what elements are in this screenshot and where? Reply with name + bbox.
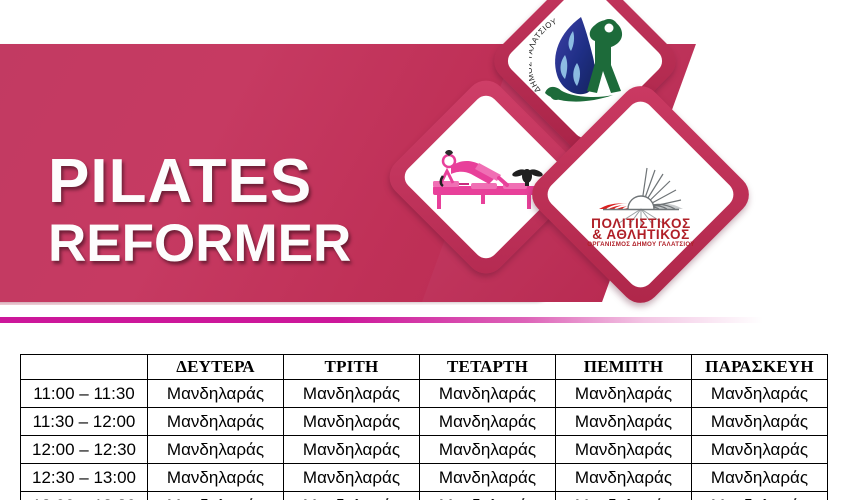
day-header-wednesday: ΤΕΤΑΡΤΗ (420, 355, 556, 380)
table-row: 11:00 – 11:30 Μανδηλαράς Μανδηλαράς Μανδ… (21, 380, 828, 408)
table-row: 13:00 – 13:30 Μανδηλαράς Μανδηλαράς Μανδ… (21, 492, 828, 500)
schedule-cell: Μανδηλαράς (148, 436, 284, 464)
schedule-cell: Μανδηλαράς (556, 436, 692, 464)
page-title: PILATES (48, 152, 448, 212)
time-slot: 12:30 – 13:00 (21, 464, 148, 492)
time-slot: 12:00 – 12:30 (21, 436, 148, 464)
day-header-friday: ΠΑΡΑΣΚΕΥΗ (692, 355, 828, 380)
schedule-table-body: 11:00 – 11:30 Μανδηλαράς Μανδηλαράς Μανδ… (21, 380, 828, 500)
schedule-cell: Μανδηλαράς (556, 492, 692, 500)
schedule-cell: Μανδηλαράς (556, 464, 692, 492)
schedule-cell: Μανδηλαράς (284, 380, 420, 408)
corner-cell (21, 355, 148, 380)
time-slot: 13:00 – 13:30 (21, 492, 148, 500)
time-slot: 11:30 – 12:00 (21, 408, 148, 436)
day-header-monday: ΔΕΥΤΕΡΑ (148, 355, 284, 380)
poster-root: PILATES REFORMER (0, 0, 848, 500)
schedule-cell: Μανδηλαράς (420, 408, 556, 436)
schedule-cell: Μανδηλαράς (692, 436, 828, 464)
schedule-table: ΔΕΥΤΕΡΑ ΤΡΙΤΗ ΤΕΤΑΡΤΗ ΠΕΜΠΤΗ ΠΑΡΑΣΚΕΥΗ 1… (20, 354, 828, 500)
day-header-tuesday: ΤΡΙΤΗ (284, 355, 420, 380)
table-header-row: ΔΕΥΤΕΡΑ ΤΡΙΤΗ ΤΕΤΑΡΤΗ ΠΕΜΠΤΗ ΠΑΡΑΣΚΕΥΗ (21, 355, 828, 380)
schedule-cell: Μανδηλαράς (148, 492, 284, 500)
schedule-cell: Μανδηλαράς (284, 492, 420, 500)
schedule-cell: Μανδηλαράς (420, 464, 556, 492)
schedule-cell: Μανδηλαράς (692, 464, 828, 492)
schedule-cell: Μανδηλαράς (284, 464, 420, 492)
table-row: 12:00 – 12:30 Μανδηλαράς Μανδηλαράς Μανδ… (21, 436, 828, 464)
schedule-cell: Μανδηλαράς (284, 408, 420, 436)
banner-shadow-line (0, 302, 560, 305)
day-header-thursday: ΠΕΜΠΤΗ (556, 355, 692, 380)
schedule-cell: Μανδηλαράς (556, 408, 692, 436)
schedule-cell: Μανδηλαράς (692, 492, 828, 500)
table-row: 11:30 – 12:00 Μανδηλαράς Μανδηλαράς Μανδ… (21, 408, 828, 436)
schedule-cell: Μανδηλαράς (284, 436, 420, 464)
schedule-cell: Μανδηλαράς (692, 408, 828, 436)
svg-text:ΟΡΓΑΝΙΣΜΟΣ ΔΗΜΟΥ ΓΑΛΑΤΣΙΟΥ: ΟΡΓΑΝΙΣΜΟΣ ΔΗΜΟΥ ΓΑΛΑΤΣΙΟΥ (587, 241, 695, 247)
schedule-table-wrapper: ΔΕΥΤΕΡΑ ΤΡΙΤΗ ΤΕΤΑΡΤΗ ΠΕΜΠΤΗ ΠΑΡΑΣΚΕΥΗ 1… (20, 354, 828, 500)
time-slot: 11:00 – 11:30 (21, 380, 148, 408)
schedule-cell: Μανδηλαράς (148, 380, 284, 408)
schedule-cell: Μανδηλαράς (420, 380, 556, 408)
table-row: 12:30 – 13:00 Μανδηλαράς Μανδηλαράς Μανδ… (21, 464, 828, 492)
schedule-cell: Μανδηλαράς (148, 408, 284, 436)
accent-strip (0, 317, 848, 323)
schedule-cell: Μανδηλαράς (556, 380, 692, 408)
schedule-cell: Μανδηλαράς (420, 492, 556, 500)
page-subtitle: REFORMER (48, 214, 448, 273)
schedule-cell: Μανδηλαράς (420, 436, 556, 464)
schedule-cell: Μανδηλαράς (692, 380, 828, 408)
svg-text:& ΑΘΛΗΤΙΚΟΣ: & ΑΘΛΗΤΙΚΟΣ (592, 227, 690, 242)
title-block: PILATES REFORMER (48, 152, 448, 273)
organisation-logo: ΠΟΛΙΤΙΣΤΙΚΟΣ & ΑΘΛΗΤΙΚΟΣ ΟΡΓΑΝΙΣΜΟΣ ΔΗΜΟ… (571, 125, 710, 264)
svg-text:ΔΗΜΟΣ ΓΑΛΑΤΣΙΟΥ: ΔΗΜΟΣ ΓΑΛΑΤΣΙΟΥ (529, 17, 559, 95)
schedule-cell: Μανδηλαράς (148, 464, 284, 492)
